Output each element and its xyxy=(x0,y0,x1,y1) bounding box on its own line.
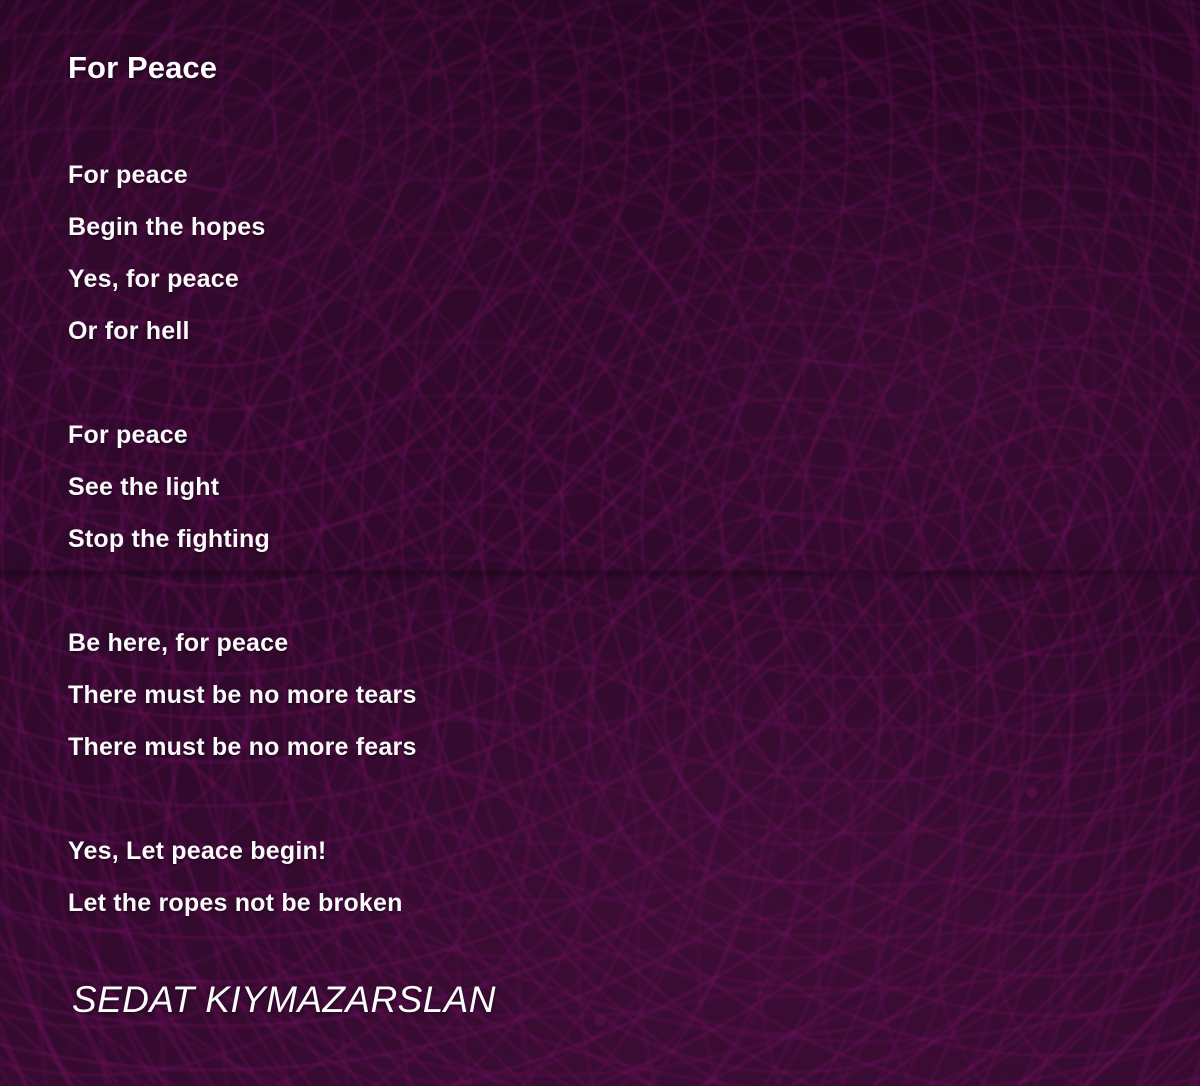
poem-line: There must be no more fears xyxy=(68,721,1140,773)
poem-stanza-3: Be here, for peace There must be no more… xyxy=(68,617,1140,773)
poem-line: For peace xyxy=(68,409,1140,461)
poem-line: Let the ropes not be broken xyxy=(68,877,1140,929)
poem-line: Be here, for peace xyxy=(68,617,1140,669)
poem-line: There must be no more tears xyxy=(68,669,1140,721)
poem-author-signature: SEDAT KIYMAZARSLAN xyxy=(72,981,1140,1018)
poem-stanza-2: For peace See the light Stop the fightin… xyxy=(68,409,1140,565)
poem-line: Stop the fighting xyxy=(68,513,1140,565)
poem-line: Begin the hopes xyxy=(68,201,1140,253)
poem-line: Yes, for peace xyxy=(68,253,1140,305)
poem-line: Yes, Let peace begin! xyxy=(68,825,1140,877)
poem-title: For Peace xyxy=(68,52,1140,85)
poem-line: Or for hell xyxy=(68,305,1140,357)
poem-line: See the light xyxy=(68,461,1140,513)
poem-stanza-1: For peace Begin the hopes Yes, for peace… xyxy=(68,149,1140,357)
poem-stanza-4: Yes, Let peace begin! Let the ropes not … xyxy=(68,825,1140,929)
poem-image-card: For Peace For peace Begin the hopes Yes,… xyxy=(0,0,1200,1086)
poem-content: For Peace For peace Begin the hopes Yes,… xyxy=(0,0,1200,1018)
poem-line: For peace xyxy=(68,149,1140,201)
